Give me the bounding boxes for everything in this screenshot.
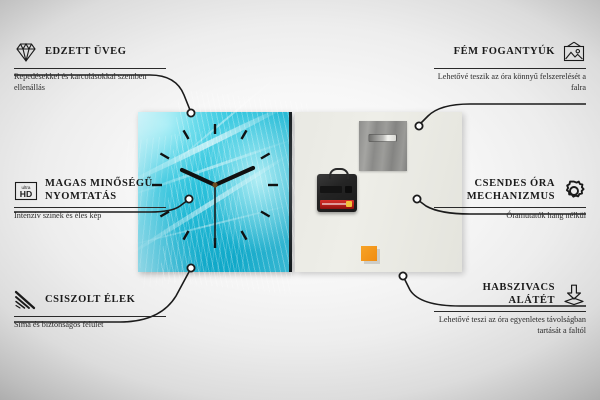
callout-print-quality: ultra HD MAGAS MINŐSÉGŰ NYOMTATÁS Intenz… <box>14 178 166 222</box>
glass-polished-edge <box>289 112 292 272</box>
callout-subtitle: Lehetővé teszi az óra egyenletes távolsá… <box>434 315 586 336</box>
foam-spacer-pad <box>361 246 377 261</box>
callout-title: CSISZOLT ÉLEK <box>45 294 166 307</box>
down-arrow-pad-icon <box>562 283 586 307</box>
infographic-root: EDZETT ÜVEG Repedésekkel és karcolásokka… <box>0 0 600 400</box>
callout-rule <box>434 311 586 312</box>
clock-minute-hand <box>215 168 253 185</box>
callout-title: HABSZIVACS ALÁTÉT <box>434 282 555 307</box>
callout-foam-pad: HABSZIVACS ALÁTÉT Lehetővé teszi az óra … <box>434 282 586 336</box>
gear-icon <box>562 179 586 203</box>
clock-center-cap <box>212 182 217 187</box>
connector-endpoint <box>399 272 406 279</box>
battery-plus-terminal <box>346 201 352 207</box>
callout-tempered-glass: EDZETT ÜVEG Repedésekkel és karcolásokka… <box>14 40 166 93</box>
callout-rule <box>434 68 586 69</box>
callout-title: MAGAS MINŐSÉGŰ NYOMTATÁS <box>45 178 166 203</box>
callout-rule <box>14 207 166 208</box>
metal-hanger-plate <box>359 121 407 171</box>
callout-subtitle: Óramutatók hang nélkül <box>434 211 586 222</box>
callout-title: EDZETT ÜVEG <box>45 46 166 59</box>
diamond-icon <box>14 40 38 64</box>
ultra-hd-icon: ultra HD <box>14 179 38 203</box>
callout-subtitle: Lehetővé teszik az óra könnyű felszerelé… <box>434 72 586 93</box>
callout-subtitle: Sima és biztonságos felület <box>14 320 166 331</box>
product-image <box>138 112 462 272</box>
mechanism-hook <box>329 168 349 179</box>
callout-title: CSENDES ÓRA MECHANIZMUS <box>434 178 555 203</box>
callout-subtitle: Repedésekkel és karcolásokkal szemben el… <box>14 72 166 93</box>
callout-rule <box>434 207 586 208</box>
polished-edge-icon <box>14 288 38 312</box>
callout-title: FÉM FOGANTYÚK <box>434 46 555 59</box>
callout-rule <box>14 316 166 317</box>
callout-silent-mechanism: CSENDES ÓRA MECHANIZMUS Óramutatók hang … <box>434 178 586 222</box>
picture-hanger-icon <box>562 40 586 64</box>
callout-rule <box>14 68 166 69</box>
mechanism-seam <box>320 186 342 193</box>
callout-polished-edges: CSISZOLT ÉLEK Sima és biztonságos felüle… <box>14 288 166 331</box>
battery-band <box>322 203 346 205</box>
callout-metal-handles: FÉM FOGANTYÚK Lehetővé teszik az óra kön… <box>434 40 586 93</box>
clock-hour-hand <box>182 170 215 185</box>
quartz-mechanism-box <box>317 174 357 212</box>
callout-subtitle: Intenzív színek és éles kép <box>14 211 166 222</box>
battery <box>320 200 354 209</box>
mechanism-knob <box>345 186 352 193</box>
svg-text:HD: HD <box>20 189 32 199</box>
hanger-slot <box>368 134 397 142</box>
